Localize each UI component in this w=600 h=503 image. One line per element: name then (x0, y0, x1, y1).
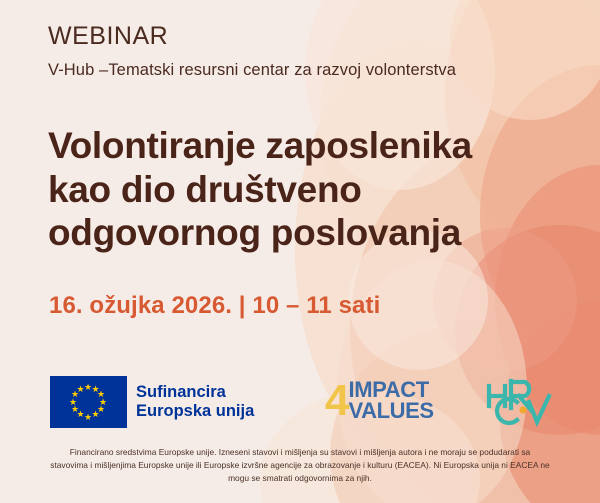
headline-line-2: kao dio društveno (48, 168, 528, 212)
headline-line-1: Volontiranje zaposlenika (48, 124, 528, 168)
funding-disclaimer: Financirano sredstvima Europske unije. I… (50, 446, 550, 484)
hrcv-logo (483, 374, 555, 430)
eu-funding-logo: ★★★★★★★★★★★★ Sufinancira Europska unija (50, 376, 254, 428)
eu-logo-text: Sufinancira Europska unija (136, 383, 254, 421)
eu-logo-line-1: Sufinancira (136, 383, 254, 402)
subtitle-vhub: V-Hub –Tematski resursni centar za razvo… (48, 61, 456, 80)
hrcv-letters-icon (489, 381, 549, 423)
page-title: Volontiranje zaposlenika kao dio društve… (48, 124, 528, 255)
logo-strip: ★★★★★★★★★★★★ Sufinancira Europska unija … (0, 368, 600, 430)
eu-flag-icon: ★★★★★★★★★★★★ (50, 376, 127, 428)
impact-word-2: VALUES (348, 401, 433, 422)
4impact-values-logo: 4 IMPACT VALUES (325, 380, 434, 421)
impact-numeral: 4 (325, 383, 347, 419)
impact-wordmark: IMPACT VALUES (348, 380, 433, 421)
eyebrow-webinar: WEBINAR (48, 22, 168, 51)
webinar-poster: WEBINAR V-Hub –Tematski resursni centar … (0, 0, 600, 503)
hrcv-dot-icon (519, 406, 526, 413)
event-datetime: 16. ožujka 2026. | 10 – 11 sati (49, 292, 380, 320)
headline-line-3: odgovornog poslovanja (48, 211, 528, 255)
eu-logo-line-2: Europska unija (136, 402, 254, 421)
